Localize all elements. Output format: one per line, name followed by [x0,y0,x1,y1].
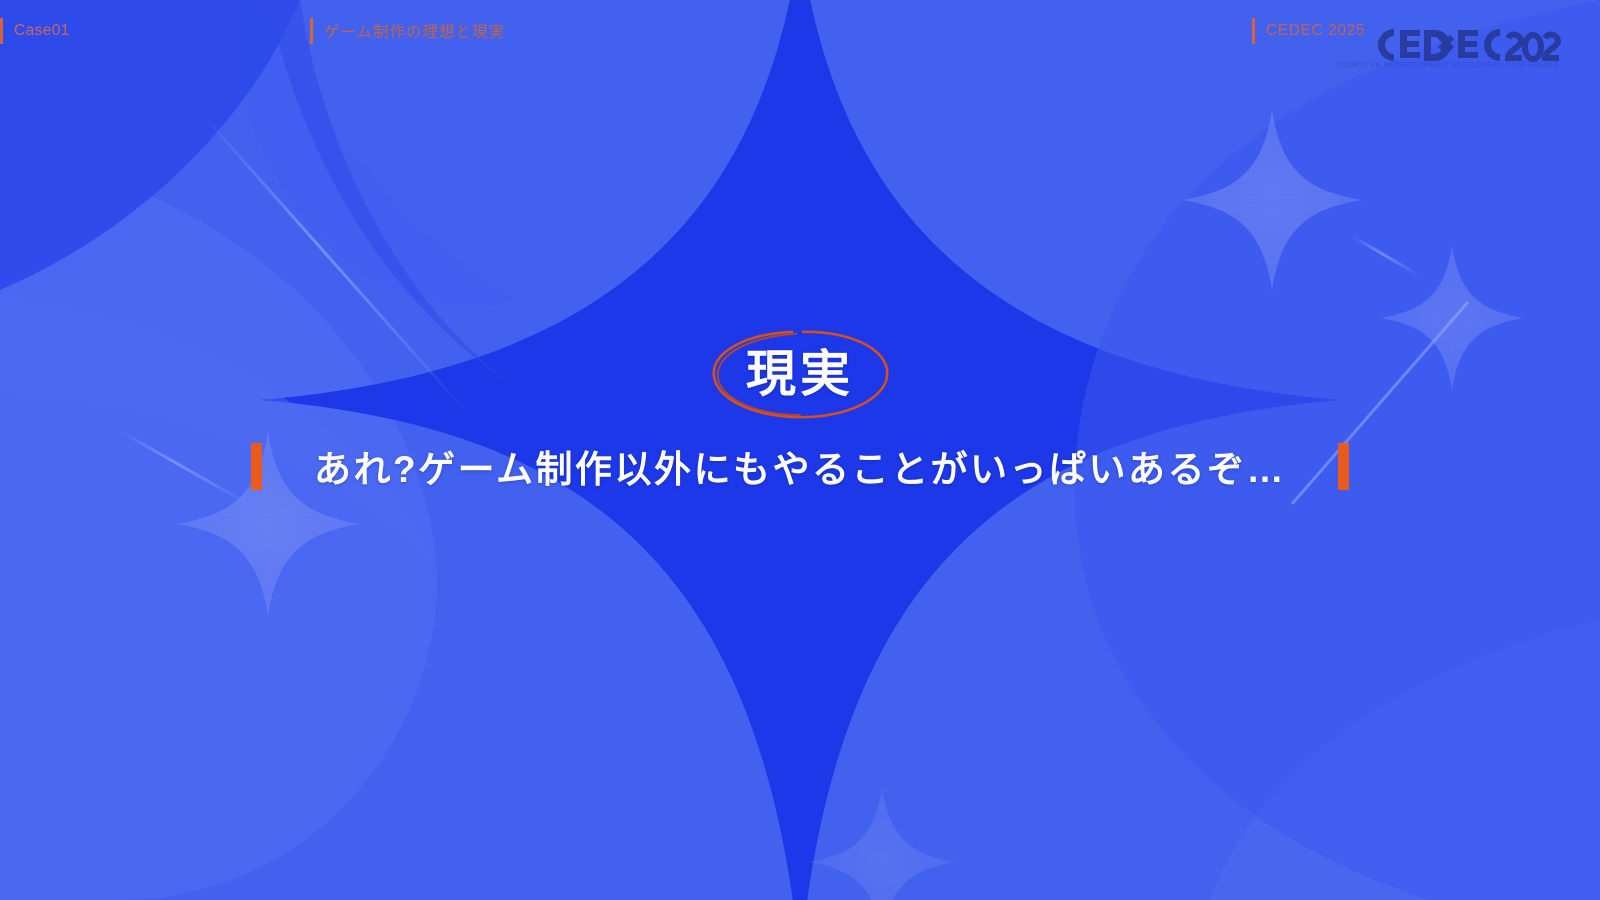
reality-title-block: 現実 [0,318,1600,430]
header-session-title: ゲーム制作の理想と現実 [310,16,505,46]
presentation-slide: Case01 ゲーム制作の理想と現実 CEDEC 2025 [0,0,1600,900]
header-event-label: CEDEC 2025 [1252,16,1365,46]
reality-statement-row: あれ?ゲーム制作以外にもやることがいっぱいあるぞ… [0,432,1600,500]
page-title: 現実 [720,337,880,411]
accent-bar-left-icon [251,443,262,490]
header-session-text: ゲーム制作の理想と現実 [324,20,505,42]
reality-statement-text: あれ?ゲーム制作以外にもやることがいっぱいあるぞ… [314,439,1286,493]
header-event-text: CEDEC 2025 [1266,22,1365,40]
cedec-logo [1374,27,1562,65]
header-tick-icon [1252,18,1255,44]
cedec-logo-tagline: COMPUTER ENTERTAINMENT DEVELOPERS CONFER… [1337,62,1560,69]
slide-header: Case01 ゲーム制作の理想と現実 CEDEC 2025 [0,0,1600,62]
header-case-label: Case01 [0,16,70,46]
header-tick-icon [310,18,313,44]
header-tick-icon [0,18,3,44]
header-case-text: Case01 [14,22,70,40]
accent-bar-right-icon [1338,443,1349,490]
